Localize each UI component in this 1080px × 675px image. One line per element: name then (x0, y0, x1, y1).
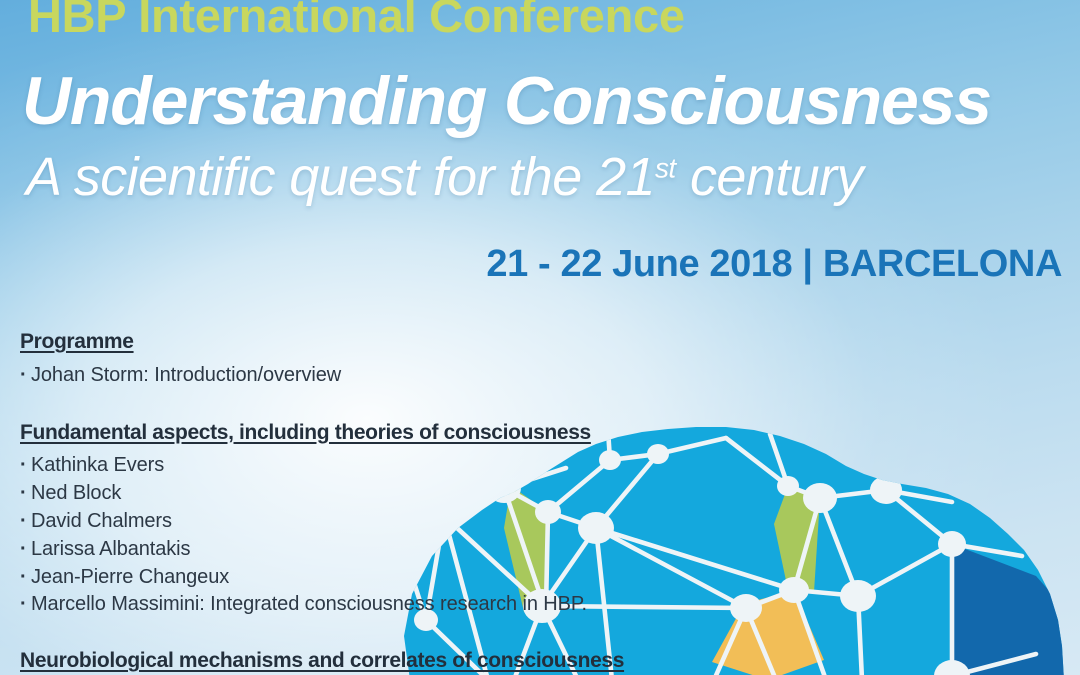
poster-subtitle-ordinal: st (655, 153, 676, 184)
programme-block: Programme Johan Storm: Introduction/over… (20, 330, 780, 674)
conference-kicker: HBP International Conference (28, 0, 685, 43)
programme-item: Larissa Albantakis (20, 536, 780, 564)
poster-subtitle-main: A scientific quest for the 21 (26, 147, 655, 207)
programme-item: Johan Storm: Introduction/overview (20, 362, 780, 390)
date-location-bar: 21 - 22 June 2018 | BARCELONA (486, 243, 1062, 286)
programme-item: David Chalmers (20, 508, 780, 536)
programme-item: Marcello Massimini: Integrated conscious… (20, 591, 780, 619)
poster-text-layer: HBP International Conference Understandi… (0, 0, 1080, 675)
poster-subtitle: A scientific quest for the 21st century (26, 146, 863, 208)
programme-heading: Programme (20, 330, 780, 355)
conference-poster: HBP International Conference Understandi… (0, 0, 1080, 675)
programme-item: Jean-Pierre Changeux (20, 564, 780, 592)
programme-item: Kathinka Evers (20, 452, 780, 480)
section-heading-neurobiological-mechanisms: Neurobiological mechanisms and correlate… (20, 649, 780, 674)
section-heading-fundamental-aspects: Fundamental aspects, including theories … (20, 421, 780, 446)
poster-subtitle-tail: century (676, 147, 863, 207)
poster-title: Understanding Consciousness (22, 62, 991, 140)
programme-item: Ned Block (20, 480, 780, 508)
